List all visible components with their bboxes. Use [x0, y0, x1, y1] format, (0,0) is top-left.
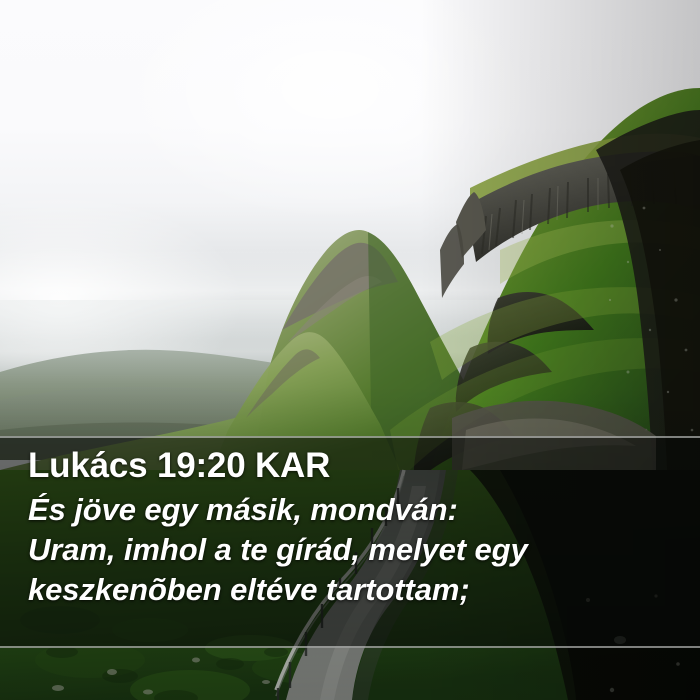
verse-line-2: Uram, imhol a te gírád, melyet egy: [28, 530, 690, 570]
verse-reference: Lukács 19:20 KAR: [28, 444, 690, 488]
verse-body: És jöve egy másik, mondván: Uram, imhol …: [28, 490, 690, 610]
verse-line-1: És jöve egy másik, mondván:: [28, 490, 690, 530]
verse-text-overlay: Lukács 19:20 KAR És jöve egy másik, mond…: [0, 436, 700, 648]
verse-image-card: Lukács 19:20 KAR És jöve egy másik, mond…: [0, 0, 700, 700]
verse-line-3: keszkenõben eltéve tartottam;: [28, 570, 690, 610]
